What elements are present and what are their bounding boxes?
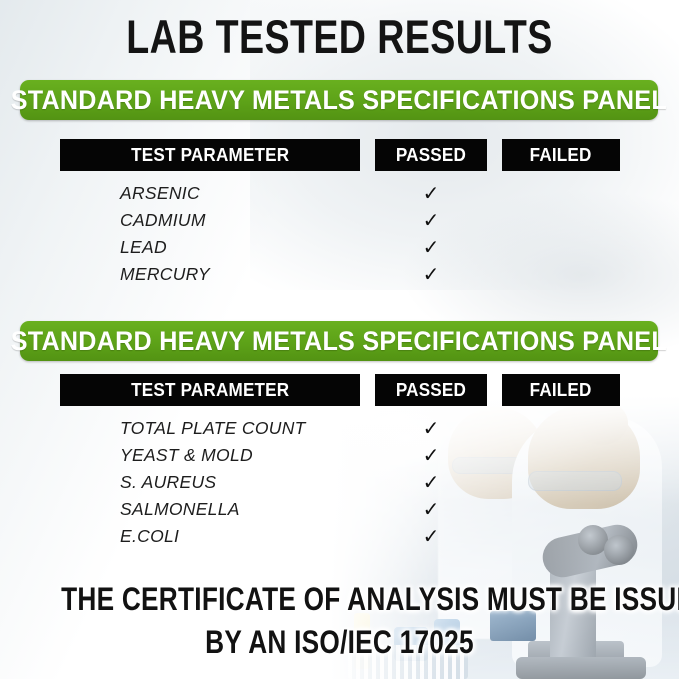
passed-check-icon: ✓ bbox=[415, 261, 447, 288]
certificate-notice-line-2: BY AN ISO/IEC 17025 bbox=[61, 621, 618, 664]
column-header-failed-label: FAILED bbox=[530, 145, 592, 166]
passed-check-icon: ✓ bbox=[415, 415, 447, 442]
certificate-notice: THE CERTIFICATE OF ANALYSIS MUST BE ISSU… bbox=[61, 578, 618, 664]
panel-banner-label: STANDARD HEAVY METALS SPECIFICATIONS PAN… bbox=[11, 86, 667, 114]
test-parameter-name: TOTAL PLATE COUNT bbox=[120, 415, 306, 442]
column-header-failed: FAILED bbox=[502, 139, 620, 171]
table-row: TOTAL PLATE COUNT ✓ bbox=[0, 415, 679, 442]
table-row: CADMIUM ✓ bbox=[0, 207, 679, 234]
column-header-failed: FAILED bbox=[502, 374, 620, 406]
test-parameter-name: CADMIUM bbox=[120, 207, 206, 234]
test-parameter-name: YEAST & MOLD bbox=[120, 442, 253, 469]
passed-check-icon: ✓ bbox=[415, 469, 447, 496]
table-body-2: TOTAL PLATE COUNT ✓ YEAST & MOLD ✓ S. AU… bbox=[0, 415, 679, 550]
table-row: E.COLI ✓ bbox=[0, 523, 679, 550]
test-parameter-name: LEAD bbox=[120, 234, 167, 261]
column-header-test-parameter: TEST PARAMETER bbox=[60, 139, 360, 171]
column-header-failed-label: FAILED bbox=[530, 380, 592, 401]
table-row: LEAD ✓ bbox=[0, 234, 679, 261]
test-parameter-name: SALMONELLA bbox=[120, 496, 240, 523]
column-header-passed-label: PASSED bbox=[396, 145, 466, 166]
column-header-passed: PASSED bbox=[375, 139, 487, 171]
panel-banner-microbials: STANDARD HEAVY METALS SPECIFICATIONS PAN… bbox=[20, 321, 658, 361]
column-header-passed: PASSED bbox=[375, 374, 487, 406]
test-parameter-name: S. AUREUS bbox=[120, 469, 216, 496]
table-row: SALMONELLA ✓ bbox=[0, 496, 679, 523]
test-parameter-name: MERCURY bbox=[120, 261, 210, 288]
column-header-test-parameter: TEST PARAMETER bbox=[60, 374, 360, 406]
passed-check-icon: ✓ bbox=[415, 523, 447, 550]
column-header-test-parameter-label: TEST PARAMETER bbox=[131, 145, 289, 166]
table-row: YEAST & MOLD ✓ bbox=[0, 442, 679, 469]
test-parameter-name: ARSENIC bbox=[120, 180, 200, 207]
panel-banner-heavy-metals: STANDARD HEAVY METALS SPECIFICATIONS PAN… bbox=[20, 80, 658, 120]
column-header-passed-label: PASSED bbox=[396, 380, 466, 401]
passed-check-icon: ✓ bbox=[415, 207, 447, 234]
panel-banner-label: STANDARD HEAVY METALS SPECIFICATIONS PAN… bbox=[11, 327, 667, 355]
test-parameter-name: E.COLI bbox=[120, 523, 179, 550]
table-body-1: ARSENIC ✓ CADMIUM ✓ LEAD ✓ MERCURY ✓ bbox=[0, 180, 679, 288]
column-header-test-parameter-label: TEST PARAMETER bbox=[131, 380, 289, 401]
table-row: ARSENIC ✓ bbox=[0, 180, 679, 207]
table-header-row-1: TEST PARAMETER PASSED FAILED bbox=[0, 139, 679, 171]
passed-check-icon: ✓ bbox=[415, 234, 447, 261]
passed-check-icon: ✓ bbox=[415, 496, 447, 523]
passed-check-icon: ✓ bbox=[415, 180, 447, 207]
page-title: LAB TESTED RESULTS bbox=[68, 11, 611, 63]
certificate-notice-line-1: THE CERTIFICATE OF ANALYSIS MUST BE ISSU… bbox=[61, 578, 618, 621]
table-header-row-2: TEST PARAMETER PASSED FAILED bbox=[0, 374, 679, 406]
table-row: S. AUREUS ✓ bbox=[0, 469, 679, 496]
passed-check-icon: ✓ bbox=[415, 442, 447, 469]
table-row: MERCURY ✓ bbox=[0, 261, 679, 288]
lab-results-infographic: LAB TESTED RESULTS STANDARD HEAVY METALS… bbox=[0, 0, 679, 679]
